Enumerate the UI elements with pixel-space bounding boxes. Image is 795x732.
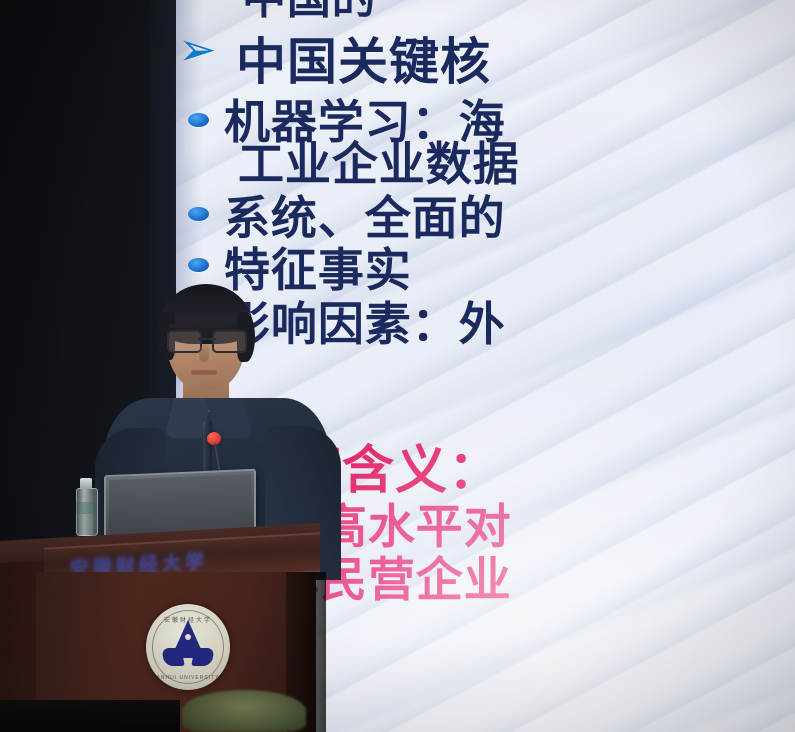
bullet-marker-icon	[188, 258, 209, 272]
university-emblem-icon: 安徽财经大学 ANHUI UNIVERSITY	[146, 604, 230, 690]
glasses-lens-left	[167, 330, 202, 353]
speaker-eyebrow-left	[169, 324, 193, 328]
emblem-center-dot	[185, 634, 191, 640]
floor-shadow	[0, 700, 180, 732]
speaker-eyebrow-right	[201, 324, 225, 328]
emblem-bottom-arc-text: ANHUI UNIVERSITY	[146, 675, 230, 681]
speaker-nose	[199, 346, 209, 362]
bullet-marker-icon	[188, 207, 209, 221]
bullet-marker-icon	[188, 113, 209, 127]
speaker-mouth	[191, 370, 217, 375]
potted-plant	[182, 690, 306, 732]
glasses-lens-right	[212, 330, 247, 353]
bottle-label	[76, 502, 96, 514]
arrow-marker-icon: ➢	[178, 26, 217, 72]
slide-line-0: 中国关键核	[236, 22, 491, 94]
bottle-cap	[80, 478, 92, 489]
glasses-bridge	[198, 338, 216, 340]
presentation-photo: 中国的 ➢ 中国关键核 机器学习：海 工业企业数据 系统、全面的 特征事实 影响…	[0, 0, 795, 732]
